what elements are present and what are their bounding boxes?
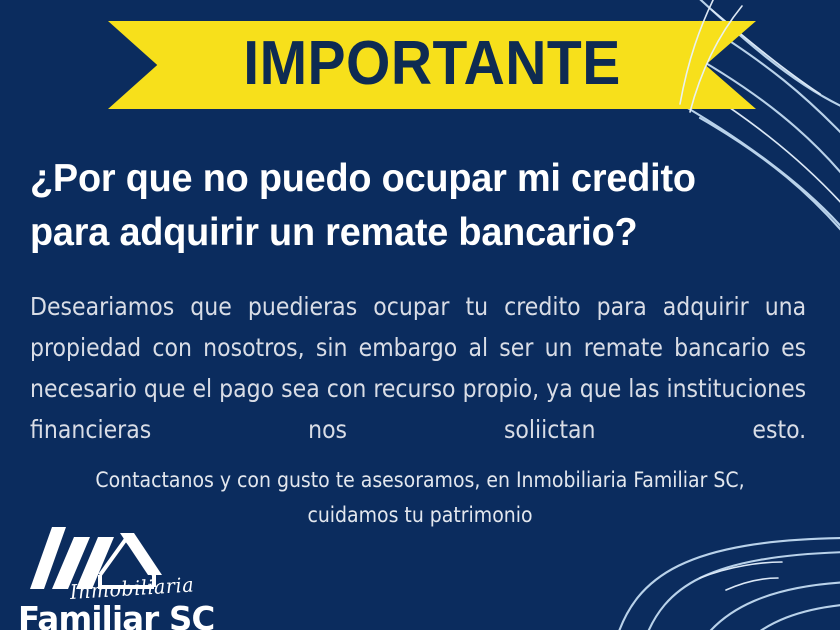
banner-title: IMPORTANTE	[134, 21, 730, 109]
headline-line-1: ¿Por que no puedo ocupar mi credito	[30, 152, 709, 206]
importante-banner: IMPORTANTE	[108, 21, 756, 109]
page-title: ¿Por que no puedo ocupar mi credito para…	[30, 152, 709, 260]
headline-line-2: para adquirir un remate bancario?	[30, 206, 709, 260]
company-logo: Inmobiliaria Familiar SC	[18, 527, 258, 627]
contact-note: Contactanos y con gusto te asesoramos, e…	[40, 463, 800, 533]
logo-company-name: Familiar SC	[18, 599, 214, 630]
body-paragraph: Deseariamos que puedieras ocupar tu cred…	[30, 286, 806, 491]
contact-line-1: Contactanos y con gusto te asesoramos, e…	[40, 463, 800, 498]
poster-canvas: IMPORTANTE ¿Por que no puedo ocupar mi c…	[0, 0, 840, 630]
